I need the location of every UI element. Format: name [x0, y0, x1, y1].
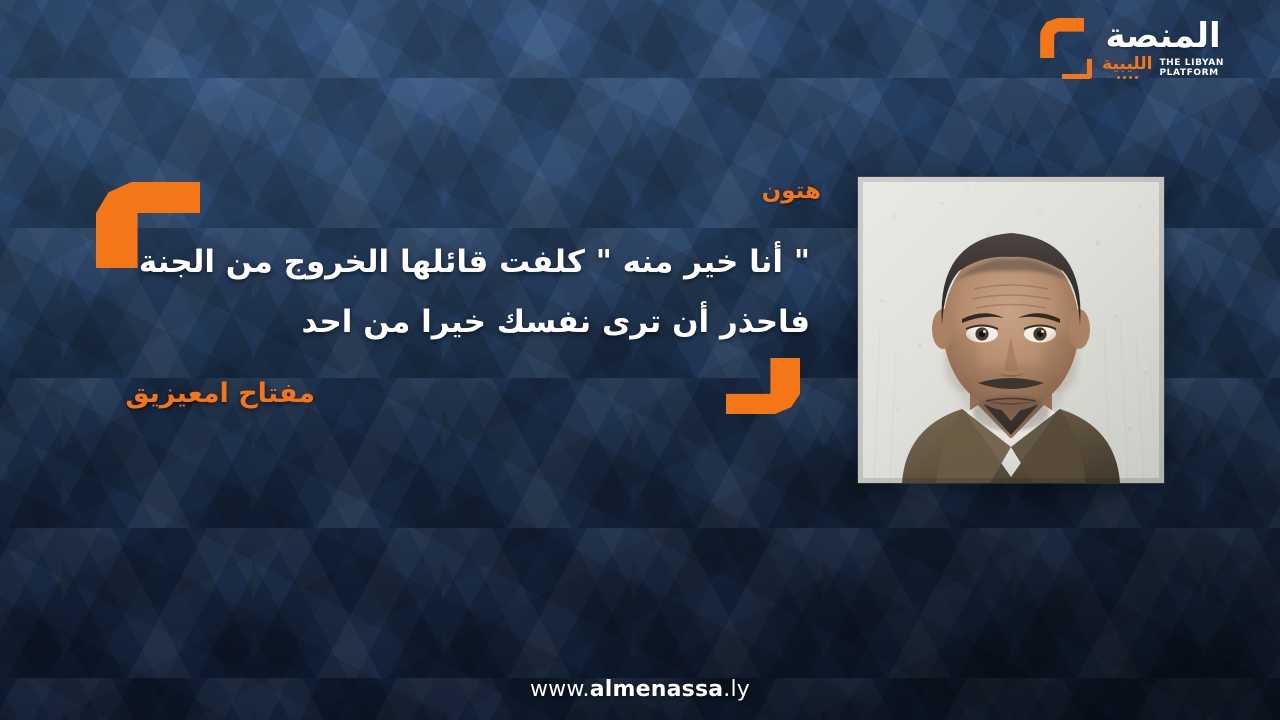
brand-logo[interactable]: المنصة THE LIBYANPLATFORM الليبية [1036, 18, 1224, 80]
brand-logo-english-line2: PLATFORM [1159, 68, 1218, 78]
brand-logo-subtitle-row: THE LIBYANPLATFORM الليبية [1102, 56, 1224, 79]
brand-logo-dots-icon [1102, 76, 1152, 79]
brand-hook-lower-icon [1062, 59, 1092, 79]
brand-logo-arabic-sub-wrap: الليبية [1102, 56, 1152, 79]
brand-logo-english-line1: THE LIBYAN [1159, 58, 1224, 68]
quote-line-2: فاحذر أن ترى نفسك خيرا من احد [170, 292, 810, 352]
quote-text-block: " أنا خير منه " كلفت قائلها الخروج من ال… [170, 232, 810, 353]
website-url-prefix: www. [530, 677, 590, 702]
website-url-suffix: .ly [723, 677, 750, 702]
footer: www.almenassa.ly [0, 677, 1280, 702]
quote-line-1: " أنا خير منه " كلفت قائلها الخروج من ال… [170, 232, 810, 292]
portrait-photo-graphic [858, 177, 1164, 483]
quote-card-canvas: المنصة THE LIBYANPLATFORM الليبية هتون "… [0, 0, 1280, 720]
website-url[interactable]: www.almenassa.ly [530, 677, 750, 702]
author-name: مفتاح امعيزيق [125, 378, 315, 409]
closing-quote-shape [726, 358, 800, 414]
brand-hook-mark-icon [1036, 18, 1092, 80]
brand-logo-text: المنصة THE LIBYANPLATFORM الليبية [1102, 19, 1224, 80]
website-url-name: almenassa [590, 677, 724, 702]
closing-quote-mark-icon [726, 358, 800, 414]
brand-hook-upper-icon [1040, 18, 1084, 58]
brand-logo-arabic-title: المنصة [1102, 19, 1224, 55]
category-label: هتون [762, 178, 821, 204]
portrait-photo [858, 177, 1164, 483]
brand-logo-english-title: THE LIBYANPLATFORM [1159, 58, 1224, 78]
brand-logo-arabic-subtitle: الليبية [1102, 54, 1152, 74]
